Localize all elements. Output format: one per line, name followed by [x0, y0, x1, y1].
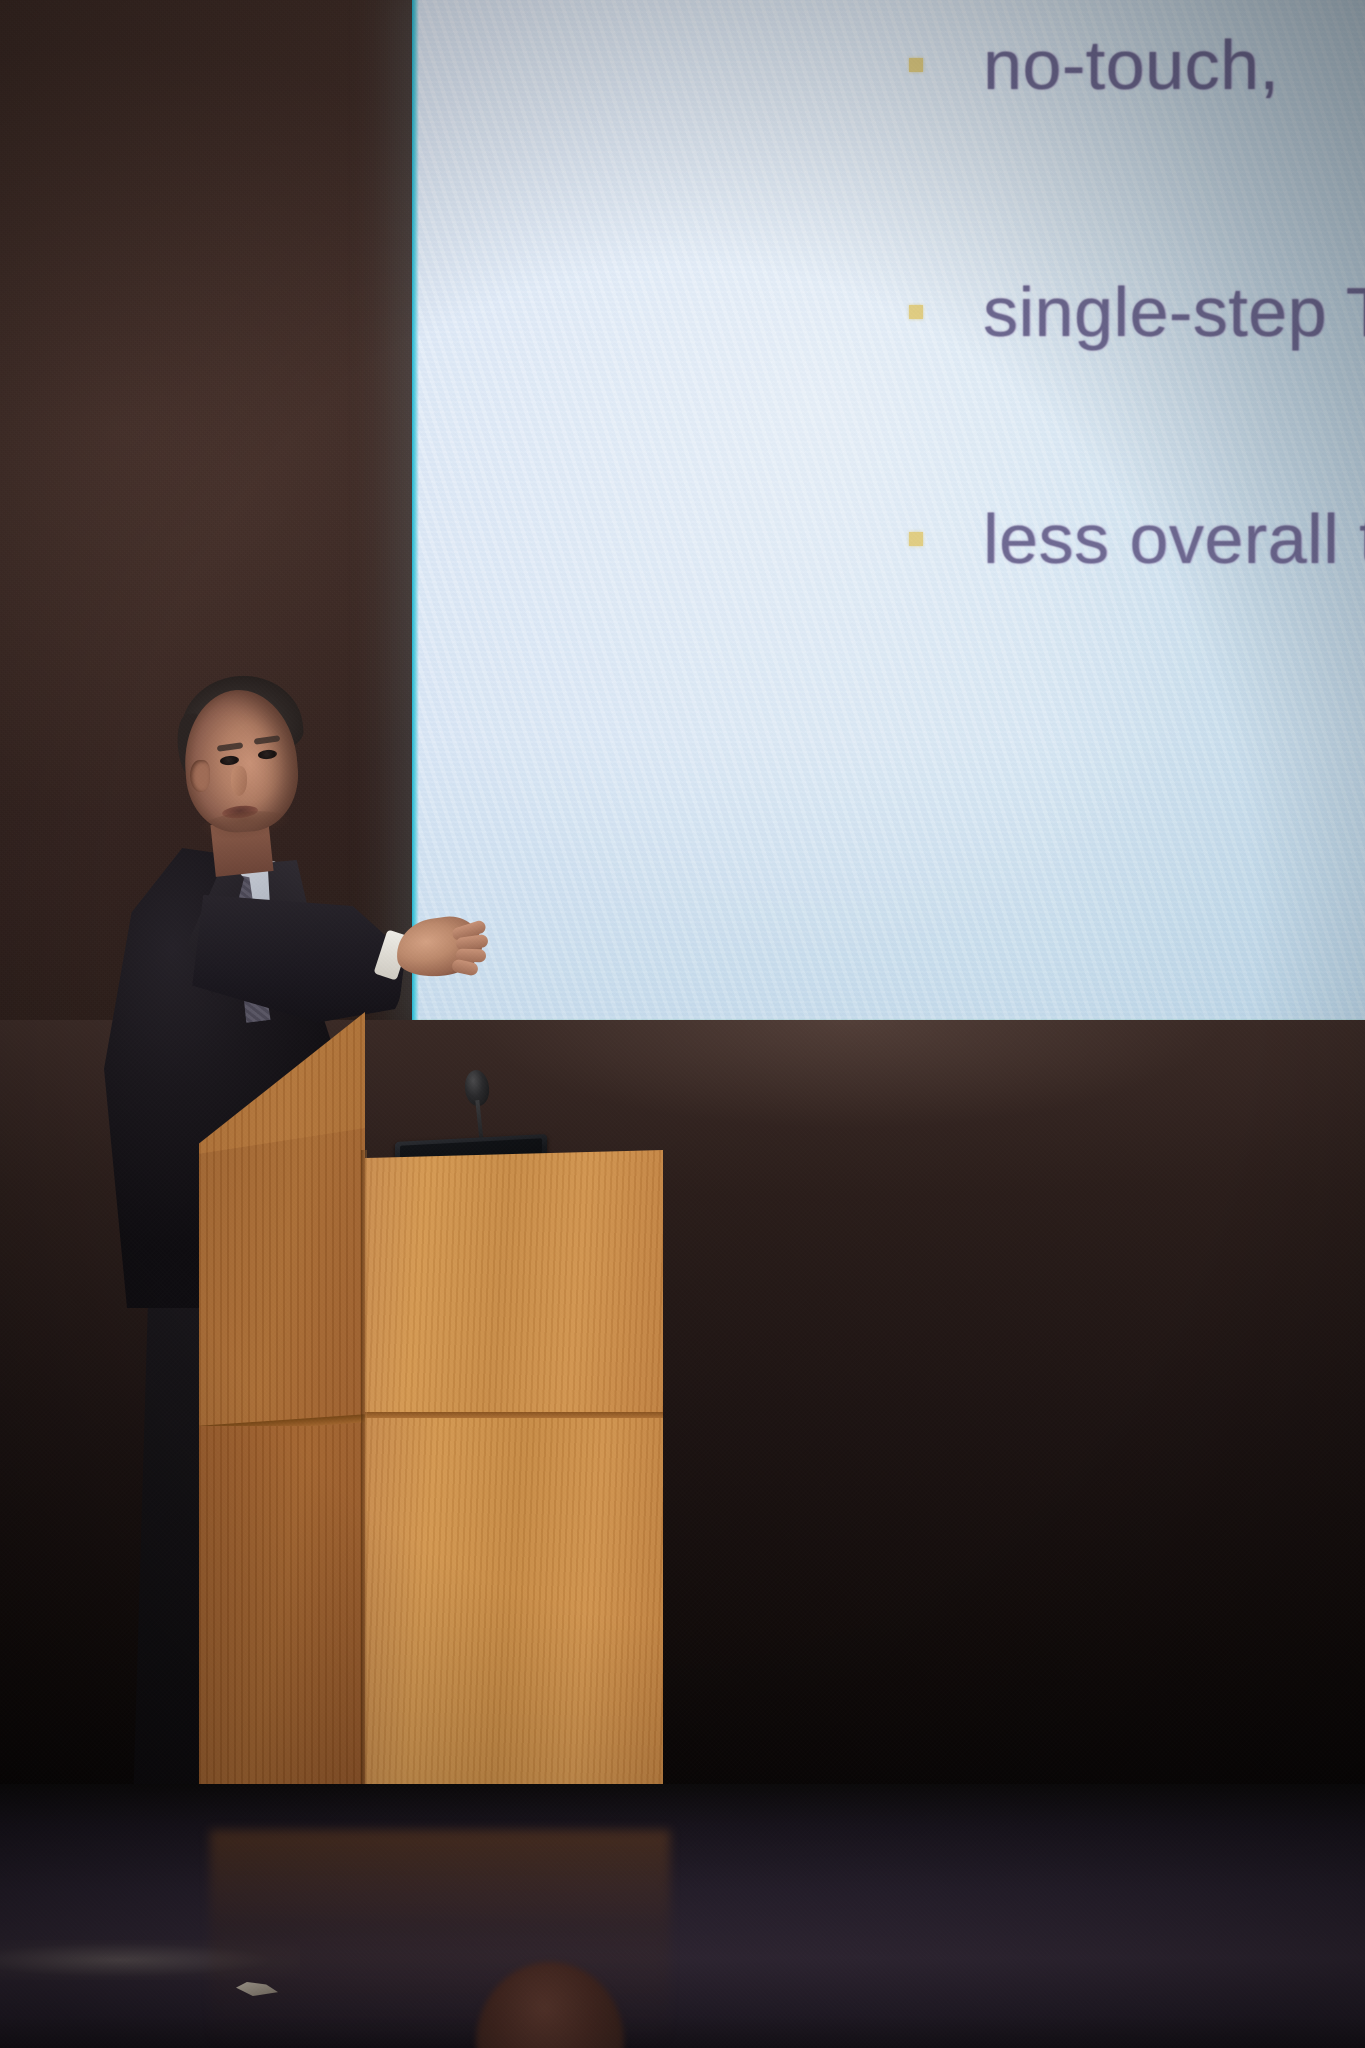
speaker-nose [231, 766, 247, 796]
lectern-front-panel-upper [365, 1150, 663, 1418]
lectern-front-panel-lower [365, 1418, 663, 1828]
speaker-ear [190, 760, 210, 792]
presentation-photo: no-touch, single-step Trans less overall… [0, 0, 1365, 2048]
stage-floor [0, 1784, 1365, 2048]
lectern-corner-edge [361, 1150, 367, 1830]
lectern-left-panel-lower [199, 1426, 365, 1822]
